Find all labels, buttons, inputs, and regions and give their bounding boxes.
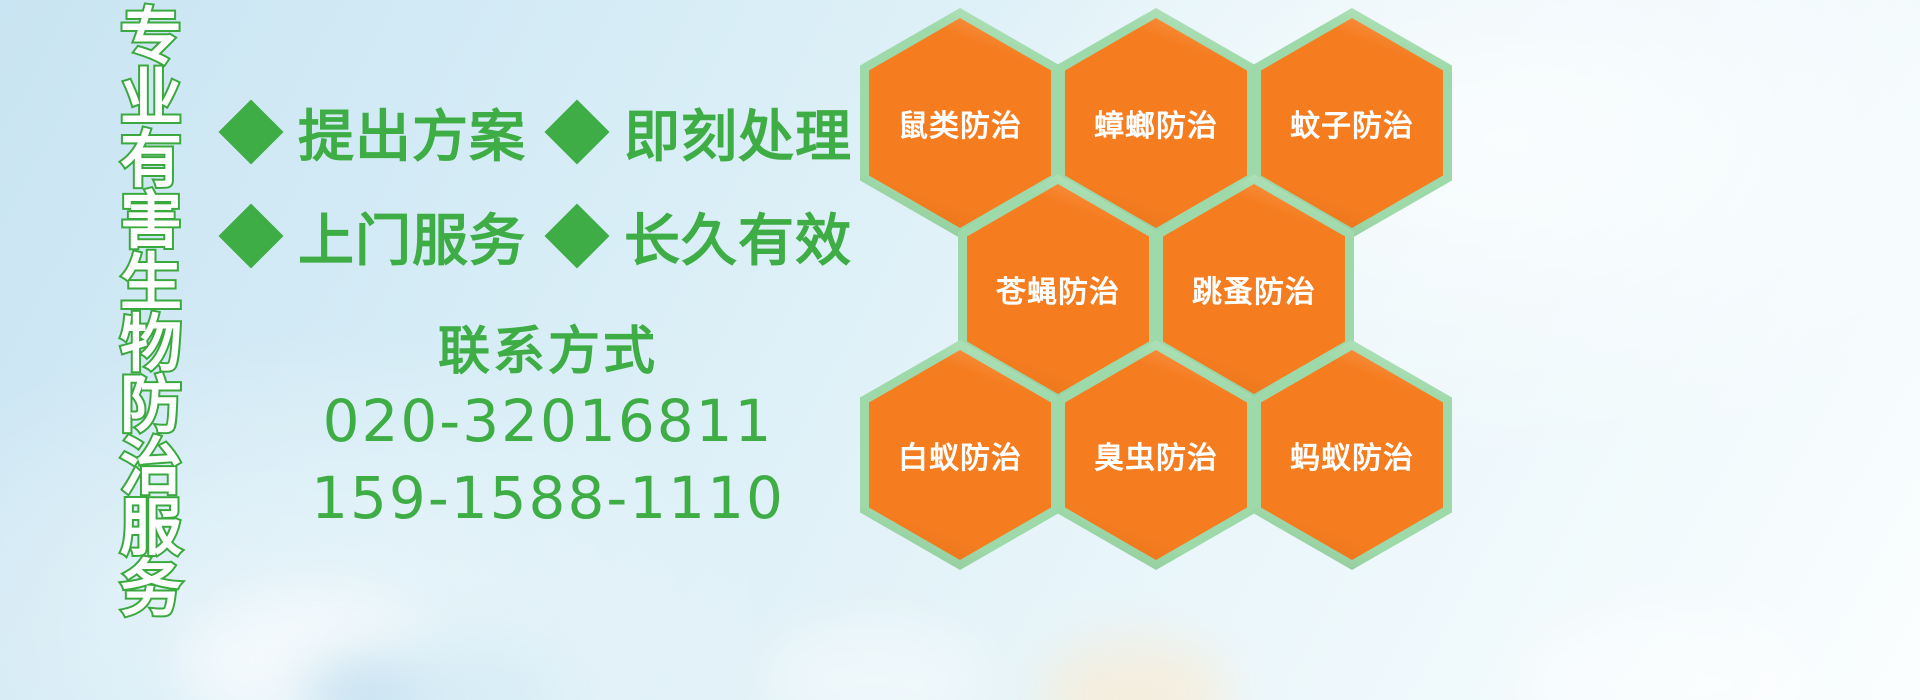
- background-bokeh-blob: [300, 660, 420, 700]
- feature-list: 提出方案 即刻处理 上门服务 长久有效: [228, 80, 868, 288]
- service-hex-label: 鼠类防治: [898, 101, 1022, 145]
- diamond-bullet-icon: [544, 203, 609, 268]
- service-hex-label: 苍蝇防治: [996, 267, 1120, 311]
- service-honeycomb-grid: 鼠类防治 蟑螂防治 蚊子防治 苍蝇防治 跳蚤防治 白蚁防治 臭虫防治: [860, 8, 1460, 564]
- feature-label: 长久有效: [624, 196, 852, 277]
- vertical-headline-char: 治: [120, 436, 182, 497]
- diamond-bullet-icon: [218, 99, 283, 164]
- feature-item-onsite-service: 上门服务: [228, 196, 526, 277]
- vertical-headline-char: 物: [120, 313, 182, 374]
- contact-title: 联系方式: [228, 322, 868, 383]
- contact-phone-mobile[interactable]: 159-1588-1110: [228, 460, 868, 537]
- background-bokeh-blob: [180, 600, 440, 700]
- service-hex-label: 白蚁防治: [898, 433, 1022, 477]
- service-hex-label: 臭虫防治: [1094, 433, 1218, 477]
- service-hex-label: 跳蚤防治: [1192, 267, 1316, 311]
- feature-item-immediate-handling: 即刻处理: [554, 92, 852, 173]
- feature-item-long-lasting: 长久有效: [554, 196, 852, 277]
- background-bokeh-blob: [1520, 610, 1820, 700]
- background-bokeh-blob: [360, 640, 560, 700]
- feature-label: 提出方案: [298, 92, 526, 173]
- feature-row: 提出方案 即刻处理: [228, 80, 868, 184]
- diamond-bullet-icon: [544, 99, 609, 164]
- feature-label: 即刻处理: [624, 92, 852, 173]
- vertical-headline-char: 害: [120, 190, 182, 251]
- vertical-headline-char: 务: [120, 558, 182, 619]
- vertical-headline: 专 业 有 害 生 物 防 治 服 务: [108, 6, 194, 678]
- vertical-headline-char: 业: [120, 67, 182, 128]
- contact-block: 联系方式 020-32016811 159-1588-1110: [228, 322, 868, 536]
- vertical-headline-char: 专: [120, 6, 182, 67]
- vertical-headline-char: 生: [120, 252, 182, 313]
- feature-row: 上门服务 长久有效: [228, 184, 868, 288]
- vertical-headline-char: 服: [120, 497, 182, 558]
- diamond-bullet-icon: [218, 203, 283, 268]
- contact-phone-landline[interactable]: 020-32016811: [228, 383, 868, 460]
- service-hex-label: 蚊子防治: [1290, 101, 1414, 145]
- background-bokeh-blob: [1040, 640, 1230, 700]
- feature-label: 上门服务: [298, 196, 526, 277]
- vertical-headline-char: 防: [120, 374, 182, 435]
- service-hex-label: 蟑螂防治: [1094, 101, 1218, 145]
- vertical-headline-char: 有: [120, 129, 182, 190]
- pest-control-service-banner: 专 业 有 害 生 物 防 治 服 务 提出方案 即刻处理 上门服务: [0, 0, 1920, 700]
- feature-item-propose-plan: 提出方案: [228, 92, 526, 173]
- service-hex-label: 蚂蚁防治: [1290, 433, 1414, 477]
- background-bokeh-blob: [760, 620, 980, 700]
